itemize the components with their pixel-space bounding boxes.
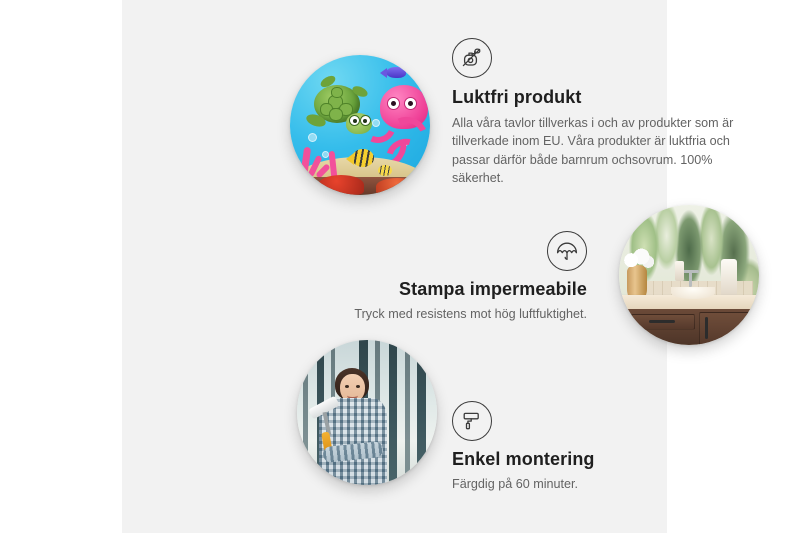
faucet-spout-icon: [682, 270, 699, 273]
no-perfume-icon: [452, 38, 492, 78]
photo-painter[interactable]: [297, 340, 437, 485]
feature-odorless: Luktfri produkt Alla våra tavlor tillver…: [452, 38, 742, 187]
faucet-icon: [689, 271, 692, 287]
fish-tail-icon: [380, 68, 387, 78]
feature-title: Enkel montering: [452, 449, 702, 470]
page-root: Luktfri produkt Alla våra tavlor tillver…: [0, 0, 800, 533]
tree: [389, 340, 397, 485]
feature-description: Färgdig på 60 minuter.: [452, 475, 702, 493]
feature-waterproof: Stampa impermeabile Tryck med resistens …: [337, 231, 587, 323]
umbrella-icon: [547, 231, 587, 271]
eye-icon: [356, 385, 360, 388]
drawer-handle-icon: [649, 320, 675, 323]
vanity-cabinet: [625, 309, 759, 345]
feature-mounting: Enkel montering Färgdig på 60 minuter.: [452, 401, 702, 493]
feature-title: Luktfri produkt: [452, 87, 742, 108]
paint-roller-icon: [452, 401, 492, 441]
flowers-icon: [621, 247, 655, 271]
octopus-eye-icon: [404, 97, 417, 110]
door-handle-icon: [705, 317, 708, 339]
tree: [417, 340, 426, 485]
painter-illustration: [297, 340, 437, 485]
crab-rock-icon: [318, 175, 364, 195]
feature-title: Stampa impermeabile: [337, 279, 587, 300]
towel-icon: [721, 259, 737, 297]
feature-description: Tryck med resistens mot hög luftfuktighe…: [337, 305, 587, 323]
underwater-illustration: [290, 55, 430, 195]
feature-description: Alla våra tavlor tillverkas i och av pro…: [452, 114, 742, 187]
fish-icon: [386, 67, 406, 78]
bathroom-illustration: [619, 205, 759, 345]
bubble-icon: [308, 133, 317, 142]
bottle-icon: [675, 261, 684, 281]
tree: [303, 340, 308, 485]
fish-icon: [378, 165, 392, 176]
eye-icon: [345, 385, 349, 388]
fish-icon: [352, 149, 374, 167]
octopus-eye-icon: [387, 97, 400, 110]
tree: [405, 340, 410, 485]
sink-icon: [671, 287, 715, 299]
turtle-eye-icon: [349, 115, 360, 126]
content-panel: Luktfri produkt Alla våra tavlor tillver…: [122, 0, 667, 533]
photo-bathroom[interactable]: [619, 205, 759, 345]
crab-rock-icon: [376, 178, 418, 195]
photo-underwater[interactable]: [290, 55, 430, 195]
fish-tail-icon: [346, 153, 354, 165]
